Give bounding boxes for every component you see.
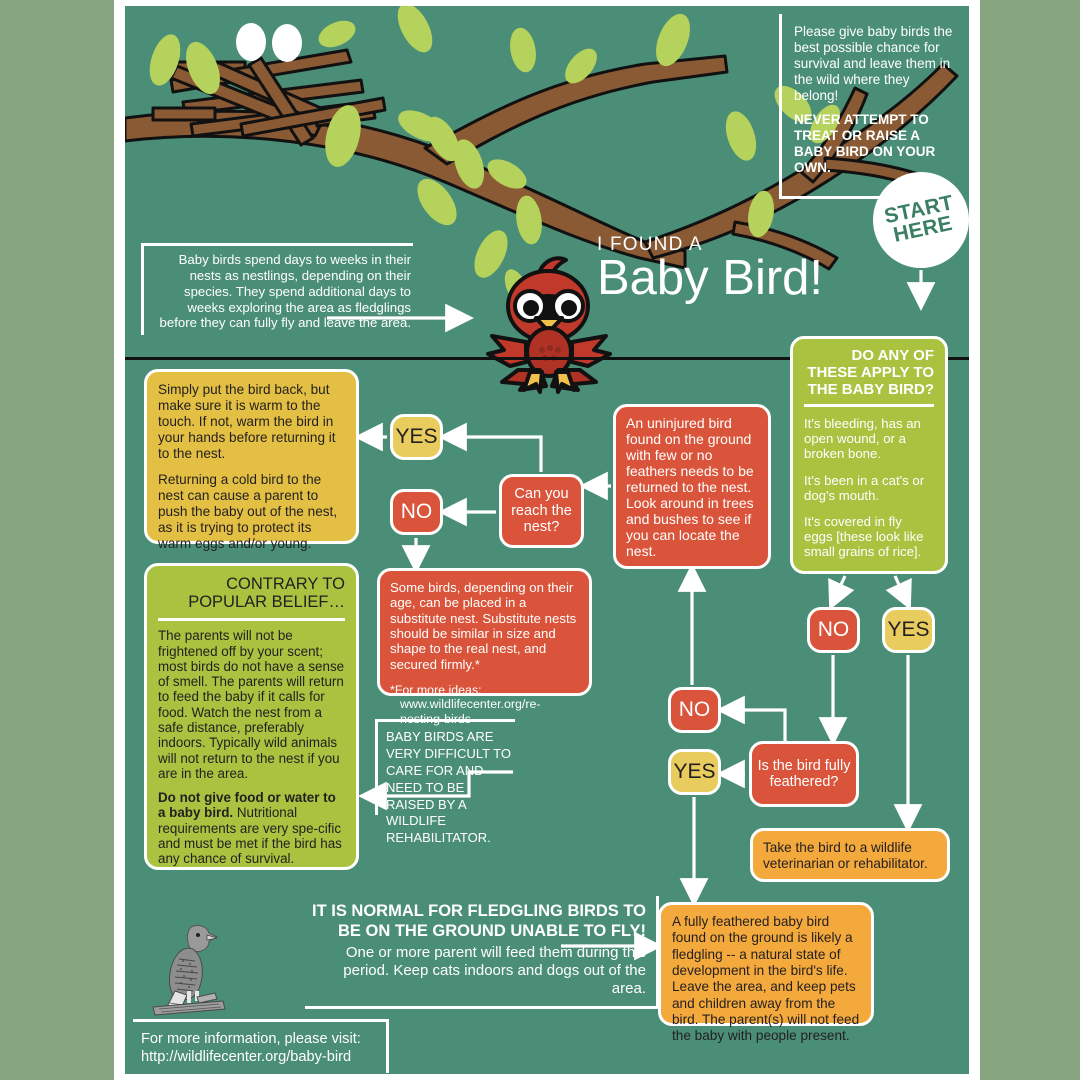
contrary-rule <box>158 618 345 621</box>
do-any-of-these-apply-box: DO ANY OF THESE APPLY TO THE BABY BIRD? … <box>790 336 948 574</box>
contrary-heading: CONTRARY TO POPULAR BELIEF… <box>158 575 345 611</box>
apply-item-1: It's bleeding, has an open wound, or a b… <box>804 416 934 461</box>
node-yes-feathered[interactable]: YES <box>668 749 721 795</box>
rehabilitator-note: BABY BIRDS ARE VERY DIFFICULT TO CARE FO… <box>375 719 515 815</box>
title-main: Baby Bird! <box>597 254 917 303</box>
apply-item-3: It's covered in fly eggs [these look lik… <box>804 514 934 559</box>
nestling-note: Baby birds spend days to weeks in their … <box>141 243 413 335</box>
vet-text: Take the bird to a wildlife veterinarian… <box>753 831 947 881</box>
take-to-vet-box: Take the bird to a wildlife veterinarian… <box>750 828 950 882</box>
infographic-canvas: Please give baby birds the best possible… <box>0 0 1080 1080</box>
contrary-to-popular-belief-box: CONTRARY TO POPULAR BELIEF… The parents … <box>144 563 359 870</box>
substitute-footnote-label: *For more ideas: <box>390 683 579 698</box>
node-no-reach-nest[interactable]: NO <box>390 489 443 535</box>
fledgling-outcome-box: A fully feathered baby bird found on the… <box>658 902 874 1026</box>
node-no-feathered[interactable]: NO <box>668 687 721 733</box>
fledgling-text: A fully feathered baby bird found on the… <box>661 905 871 1054</box>
header-callout: Please give baby birds the best possible… <box>779 14 961 199</box>
node-is-the-bird-fully-feathered[interactable]: Is the bird fully feathered? <box>749 741 859 807</box>
normal-note-heading: IT IS NORMAL FOR FLEDGLING BIRDS TO BE O… <box>309 902 646 942</box>
normal-note-body: One or more parent will feed them during… <box>309 944 646 998</box>
apply-item-2: It's been in a cat's or dog's mouth. <box>804 473 934 503</box>
apply-rule <box>804 404 934 407</box>
hawk-engraving-illustration <box>145 911 230 1019</box>
fledgling-normal-note: IT IS NORMAL FOR FLEDGLING BIRDS TO BE O… <box>305 896 659 1009</box>
substitute-nest-box: Some birds, depending on their age, can … <box>377 568 592 696</box>
eggs-icon <box>236 23 302 62</box>
uninjured-text: An uninjured bird found on the ground wi… <box>616 407 768 569</box>
page-title: I FOUND A Baby Bird! <box>597 234 917 303</box>
uninjured-bird-box: An uninjured bird found on the ground wi… <box>613 404 771 569</box>
node-yes-reach-nest[interactable]: YES <box>390 414 443 460</box>
put-bird-back-box: Simply put the bird back, but make sure … <box>144 369 359 544</box>
apply-heading: DO ANY OF THESE APPLY TO THE BABY BIRD? <box>804 348 934 398</box>
more-information-note[interactable]: For more information, please visit: http… <box>133 1019 389 1073</box>
header-callout-emphasis: NEVER ATTEMPT TO TREAT OR RAISE A BABY B… <box>794 112 953 177</box>
node-can-you-reach-the-nest[interactable]: Can you reach the nest? <box>499 474 584 548</box>
poster: Please give baby birds the best possible… <box>125 6 969 1074</box>
node-no-injuries[interactable]: NO <box>807 607 860 653</box>
node-yes-injuries[interactable]: YES <box>882 607 935 653</box>
contrary-p1: The parents will not be frightened off b… <box>158 628 345 781</box>
more-info-line1: For more information, please visit: <box>141 1030 380 1048</box>
header-callout-paragraph: Please give baby birds the best possible… <box>794 24 952 103</box>
more-info-line2[interactable]: http://wildlifecenter.org/baby-bird <box>141 1048 380 1066</box>
put-back-p2: Returning a cold bird to the nest can ca… <box>158 472 345 551</box>
substitute-body: Some birds, depending on their age, can … <box>390 580 579 672</box>
put-back-p1: Simply put the bird back, but make sure … <box>158 382 345 461</box>
